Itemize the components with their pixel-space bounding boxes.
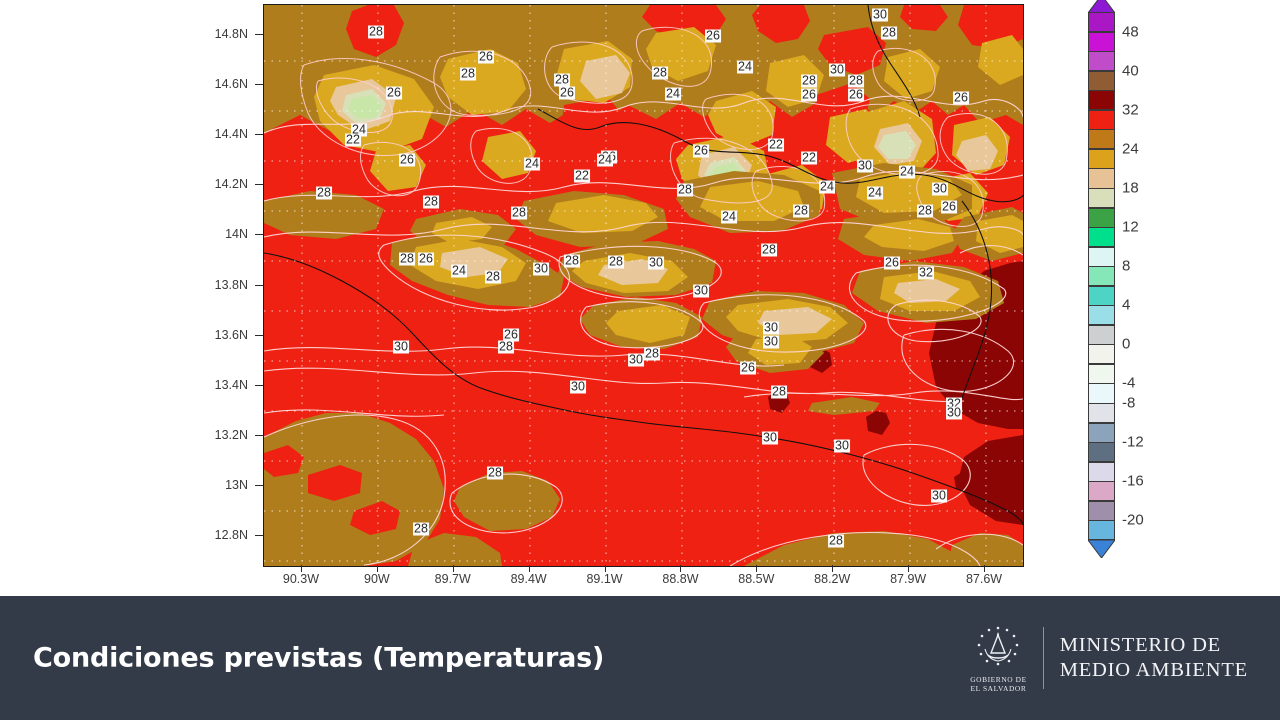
ministry-logo: GOBIERNO DE EL SALVADOR MINISTERIO DE ME…	[970, 623, 1248, 693]
ministry-line-2: MEDIO AMBIENTE	[1060, 658, 1248, 683]
contour-label: 28	[917, 205, 933, 218]
contour-label: 24	[737, 61, 753, 74]
colorbar-swatch	[1088, 305, 1115, 325]
contour-label: 30	[762, 432, 778, 445]
contour-label: 28	[828, 535, 844, 548]
x-axis-label: 89.4W	[511, 572, 547, 586]
y-axis-tick	[255, 485, 263, 486]
colorbar-tick-label: -8	[1122, 395, 1135, 412]
contour-label: 28	[485, 271, 501, 284]
contour-label: 26	[478, 51, 494, 64]
contour-label: 28	[564, 255, 580, 268]
y-axis-label: 13.2N	[0, 428, 248, 442]
colorbar-swatch	[1088, 403, 1115, 423]
crest-line-2: EL SALVADOR	[970, 684, 1026, 693]
colorbar-swatch	[1088, 12, 1115, 32]
contour-label: 24	[451, 265, 467, 278]
contour-label: 26	[801, 89, 817, 102]
x-axis-label: 88.8W	[662, 572, 698, 586]
colorbar-swatch	[1088, 51, 1115, 71]
government-crest: GOBIERNO DE EL SALVADOR	[970, 623, 1026, 693]
colorbar-swatch	[1088, 149, 1115, 169]
contour-label: 30	[628, 354, 644, 367]
colorbar-tick-label: 0	[1122, 336, 1130, 353]
colorbar-tick-label: -4	[1122, 375, 1135, 392]
contour-label: 30	[570, 381, 586, 394]
colorbar-swatch	[1088, 344, 1115, 364]
y-axis-label: 13.4N	[0, 378, 248, 392]
contour-label: 30	[872, 9, 888, 22]
map-plot-area: 2826263028262828262824243028262826262422…	[263, 4, 1024, 567]
colorbar-swatch	[1088, 32, 1115, 52]
contour-label: 28	[608, 256, 624, 269]
contour-label: 32	[918, 267, 934, 280]
colorbar-swatch	[1088, 227, 1115, 247]
x-axis-label: 89.7W	[435, 572, 471, 586]
colorbar-swatch	[1088, 129, 1115, 149]
colorbar-swatch	[1088, 423, 1115, 443]
colorbar-swatch	[1088, 325, 1115, 345]
colorbar-tick-label: 18	[1122, 179, 1139, 196]
contour-label: 28	[413, 523, 429, 536]
contour-label: 26	[848, 89, 864, 102]
contour-label: 30	[763, 322, 779, 335]
contour-label: 24	[867, 187, 883, 200]
x-axis-tick	[605, 565, 606, 572]
x-axis-label: 90W	[364, 572, 390, 586]
colorbar-tick-label: -16	[1122, 473, 1144, 490]
contour-label: 30	[946, 407, 962, 420]
colorbar-swatch	[1088, 266, 1115, 286]
colorbar-tick-label: 12	[1122, 219, 1139, 236]
y-axis-tick	[255, 84, 263, 85]
contour-label: 28	[368, 26, 384, 39]
y-axis-label: 14.8N	[0, 27, 248, 41]
ministry-line-1: MINISTERIO DE	[1060, 633, 1248, 658]
x-axis-label: 87.6W	[966, 572, 1002, 586]
x-axis-label: 89.1W	[586, 572, 622, 586]
contour-label: 30	[931, 490, 947, 503]
x-axis-tick	[908, 565, 909, 572]
contour-label: 30	[834, 440, 850, 453]
ministry-name: MINISTERIO DE MEDIO AMBIENTE	[1060, 633, 1248, 683]
contour-label: 28	[793, 205, 809, 218]
x-axis-tick	[377, 565, 378, 572]
contour-label: 24	[899, 166, 915, 179]
colorbar-tick-label: 40	[1122, 62, 1139, 79]
y-axis-label: 13.8N	[0, 278, 248, 292]
temperature-map-figure: 14.8N14.6N14.4N14.2N14N13.8N13.6N13.4N13…	[0, 0, 1280, 596]
contour-label: 26	[705, 30, 721, 43]
colorbar-tick-label: 32	[1122, 101, 1139, 118]
contour-label: 22	[574, 170, 590, 183]
screenshot-root: 14.8N14.6N14.4N14.2N14N13.8N13.6N13.4N13…	[0, 0, 1280, 720]
contour-label: 22	[801, 152, 817, 165]
contour-label: 28	[801, 75, 817, 88]
colorbar-tick-label: -12	[1122, 434, 1144, 451]
contour-label: 26	[399, 154, 415, 167]
x-axis-tick	[301, 565, 302, 572]
contour-label: 26	[693, 145, 709, 158]
colorbar-tick-label: -20	[1122, 512, 1144, 529]
contour-label: 28	[771, 386, 787, 399]
contour-label: 28	[498, 341, 514, 354]
contour-label-layer: 2826263028262828262824243028262826262422…	[264, 5, 1023, 566]
contour-label: 28	[423, 196, 439, 209]
x-axis-label: 87.9W	[890, 572, 926, 586]
contour-label: 30	[648, 257, 664, 270]
colorbar-swatch	[1088, 188, 1115, 208]
y-axis-tick	[255, 134, 263, 135]
contour-label: 26	[953, 92, 969, 105]
x-axis-tick	[680, 565, 681, 572]
bottom-banner: Condiciones previstas (Temperaturas)	[0, 596, 1280, 720]
x-axis-label: 88.5W	[738, 572, 774, 586]
contour-label: 28	[487, 467, 503, 480]
colorbar-swatch	[1088, 286, 1115, 306]
y-axis-tick	[255, 285, 263, 286]
contour-label: 28	[399, 253, 415, 266]
y-axis-tick	[255, 335, 263, 336]
colorbar-swatch	[1088, 110, 1115, 130]
contour-label: 30	[932, 183, 948, 196]
contour-label: 28	[652, 67, 668, 80]
page-title: Condiciones previstas (Temperaturas)	[33, 643, 604, 674]
colorbar-swatch	[1088, 501, 1115, 521]
colorbar-tick-label: 8	[1122, 258, 1130, 275]
y-axis-label: 14.2N	[0, 177, 248, 191]
contour-label: 28	[511, 207, 527, 220]
contour-label: 24	[524, 158, 540, 171]
y-axis-label: 14N	[0, 227, 248, 241]
colorbar-tick-label: 48	[1122, 23, 1139, 40]
x-axis-tick	[832, 565, 833, 572]
y-axis-label: 14.6N	[0, 77, 248, 91]
colorbar-swatch	[1088, 364, 1115, 384]
y-axis-tick	[255, 385, 263, 386]
contour-label: 30	[693, 285, 709, 298]
x-axis-label: 88.2W	[814, 572, 850, 586]
y-axis-label: 12.8N	[0, 528, 248, 542]
y-axis-tick	[255, 184, 263, 185]
y-axis-tick	[255, 435, 263, 436]
contour-label: 28	[848, 75, 864, 88]
colorbar-swatch	[1088, 168, 1115, 188]
contour-label: 24	[597, 154, 613, 167]
contour-label: 24	[721, 211, 737, 224]
x-axis-tick	[529, 565, 530, 572]
colorbar-swatch	[1088, 247, 1115, 267]
y-axis-tick	[255, 34, 263, 35]
contour-label: 30	[763, 336, 779, 349]
contour-label: 28	[316, 187, 332, 200]
contour-label: 30	[533, 263, 549, 276]
colorbar-swatch	[1088, 442, 1115, 462]
contour-label: 26	[418, 253, 434, 266]
contour-label: 28	[761, 244, 777, 257]
contour-label: 30	[829, 64, 845, 77]
x-axis-tick	[984, 565, 985, 572]
logo-divider	[1043, 627, 1044, 689]
colorbar-swatch	[1088, 481, 1115, 501]
y-axis-label: 13.6N	[0, 328, 248, 342]
x-axis-label: 90.3W	[283, 572, 319, 586]
contour-label: 28	[677, 184, 693, 197]
colorbar-tick-label: 4	[1122, 297, 1130, 314]
contour-label: 22	[345, 134, 361, 147]
y-axis-tick	[255, 234, 263, 235]
contour-label: 24	[819, 181, 835, 194]
crest-caption: GOBIERNO DE EL SALVADOR	[970, 675, 1026, 693]
colorbar-bottom-arrow	[1088, 540, 1115, 558]
colorbar-swatch	[1088, 383, 1115, 403]
x-axis-tick	[756, 565, 757, 572]
contour-label: 26	[740, 362, 756, 375]
contour-label: 28	[644, 348, 660, 361]
colorbar-swatch	[1088, 462, 1115, 482]
crest-line-1: GOBIERNO DE	[970, 675, 1026, 684]
contour-label: 26	[941, 201, 957, 214]
contour-label: 26	[559, 87, 575, 100]
contour-label: 30	[393, 341, 409, 354]
colorbar-swatch	[1088, 208, 1115, 228]
contour-label: 22	[768, 139, 784, 152]
y-axis-label: 14.4N	[0, 127, 248, 141]
colorbar-swatch	[1088, 90, 1115, 110]
y-axis-tick	[255, 535, 263, 536]
x-axis-tick	[453, 565, 454, 572]
colorbar-swatch	[1088, 71, 1115, 91]
el-salvador-seal-icon	[972, 623, 1024, 671]
contour-label: 24	[665, 88, 681, 101]
colorbar-tick-label: 24	[1122, 140, 1139, 157]
contour-label: 30	[857, 160, 873, 173]
colorbar-swatch	[1088, 520, 1115, 540]
contour-label: 26	[386, 87, 402, 100]
contour-label: 26	[884, 257, 900, 270]
y-axis-label: 13N	[0, 478, 248, 492]
contour-label: 28	[881, 27, 897, 40]
contour-label: 28	[460, 68, 476, 81]
